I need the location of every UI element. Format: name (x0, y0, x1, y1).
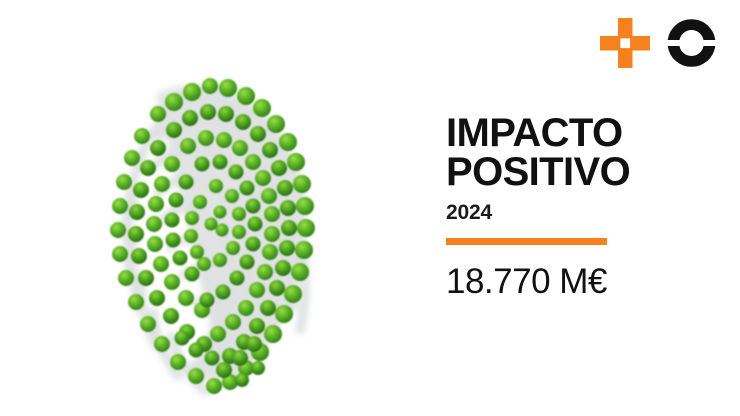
headline-line-1: IMPACTO (446, 111, 623, 155)
impact-amount: 18.770 M€ (446, 262, 696, 302)
headline-line-2: POSITIVO (446, 153, 696, 192)
plus-circle-logo (600, 16, 718, 70)
poster-canvas: IMPACTO POSITIVO 2024 18.770 M€ (0, 0, 740, 416)
tree-fingerprint-illustration (96, 52, 336, 400)
page-title: IMPACTO POSITIVO (446, 114, 696, 192)
accent-divider (446, 238, 607, 245)
year-label: 2024 (446, 201, 696, 225)
split-ring-icon (668, 19, 716, 67)
plus-icon (600, 18, 650, 68)
copy-block: IMPACTO POSITIVO 2024 18.770 M€ (446, 114, 696, 302)
